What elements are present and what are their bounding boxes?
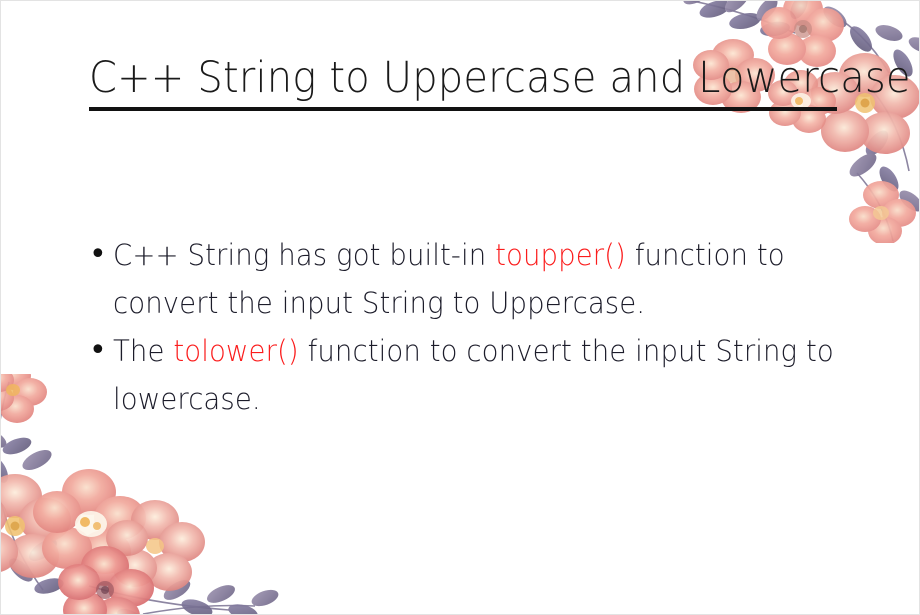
presentation-slide: C++ String to Uppercase and Lowercase • … <box>0 0 920 615</box>
list-item-text: The tolower() function to convert the in… <box>113 327 837 423</box>
bullet-1-code-toupper: toupper() <box>495 238 626 272</box>
bullet-point-icon: • <box>85 231 113 279</box>
bullet-1-segment-1: C++ String has got built-in <box>113 238 495 272</box>
bullet-list: • C++ String has got built-in toupper() … <box>85 231 875 423</box>
page-title: C++ String to Uppercase and Lowercase <box>89 53 796 103</box>
list-item: • The tolower() function to convert the … <box>85 327 875 423</box>
list-item: • C++ String has got built-in toupper() … <box>85 231 875 327</box>
list-item-text: C++ String has got built-in toupper() fu… <box>113 231 837 327</box>
floral-corner-top-right-icon <box>675 0 920 243</box>
title-block: C++ String to Uppercase and Lowercase <box>89 53 849 111</box>
bullet-point-icon: • <box>85 327 113 375</box>
bullet-2-code-tolower: tolower() <box>173 334 298 368</box>
bullet-2-segment-1: The <box>113 334 173 368</box>
title-underline-rule <box>89 107 837 111</box>
